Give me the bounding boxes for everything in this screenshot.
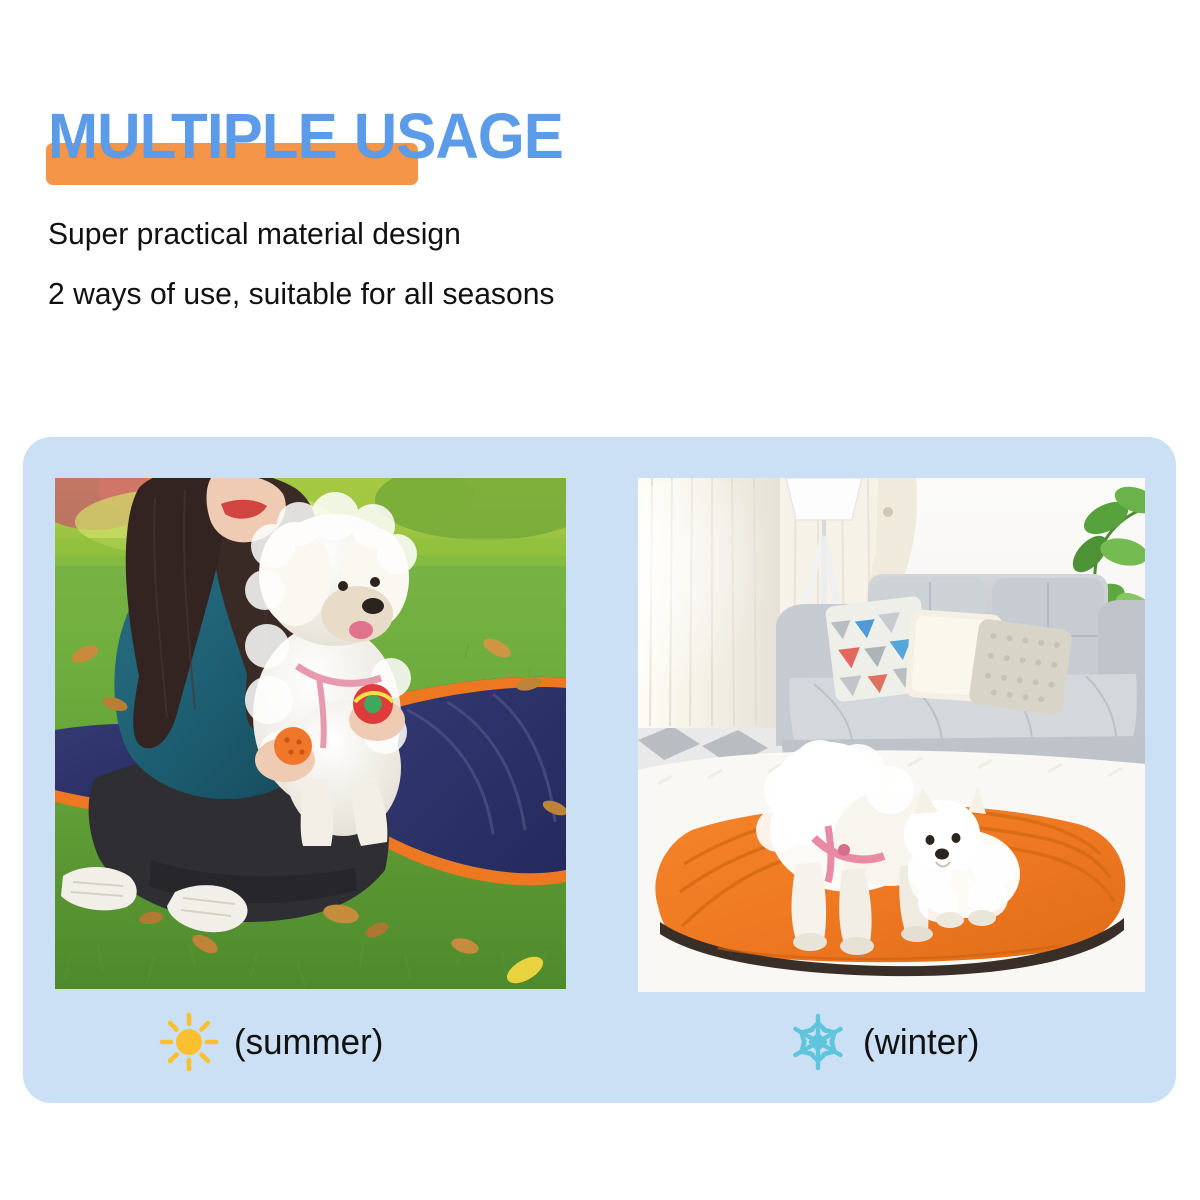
caption-winter: (winter)	[787, 1007, 983, 1077]
subtitle-line-1: Super practical material design	[48, 217, 461, 251]
title-word-usage: USAGE	[354, 100, 563, 172]
photo-winter	[638, 478, 1145, 992]
page-title: MULTIPLEUSAGE	[48, 88, 563, 184]
caption-summer: (summer)	[158, 1007, 388, 1077]
subtitle-line-2: 2 ways of use, suitable for all seasons	[48, 277, 554, 311]
winter-scene-illustration	[638, 478, 1145, 992]
caption-winter-label: (winter)	[863, 1021, 979, 1063]
snowflake-icon	[787, 1011, 849, 1073]
sun-icon	[158, 1011, 220, 1073]
infographic-canvas: MULTIPLEUSAGE Super practical material d…	[0, 0, 1200, 1200]
photo-summer	[55, 478, 566, 989]
caption-summer-label: (summer)	[234, 1021, 383, 1063]
summer-scene-illustration	[55, 478, 566, 989]
title-block: MULTIPLEUSAGE	[46, 88, 946, 196]
title-word-multiple: MULTIPLE	[48, 100, 337, 172]
